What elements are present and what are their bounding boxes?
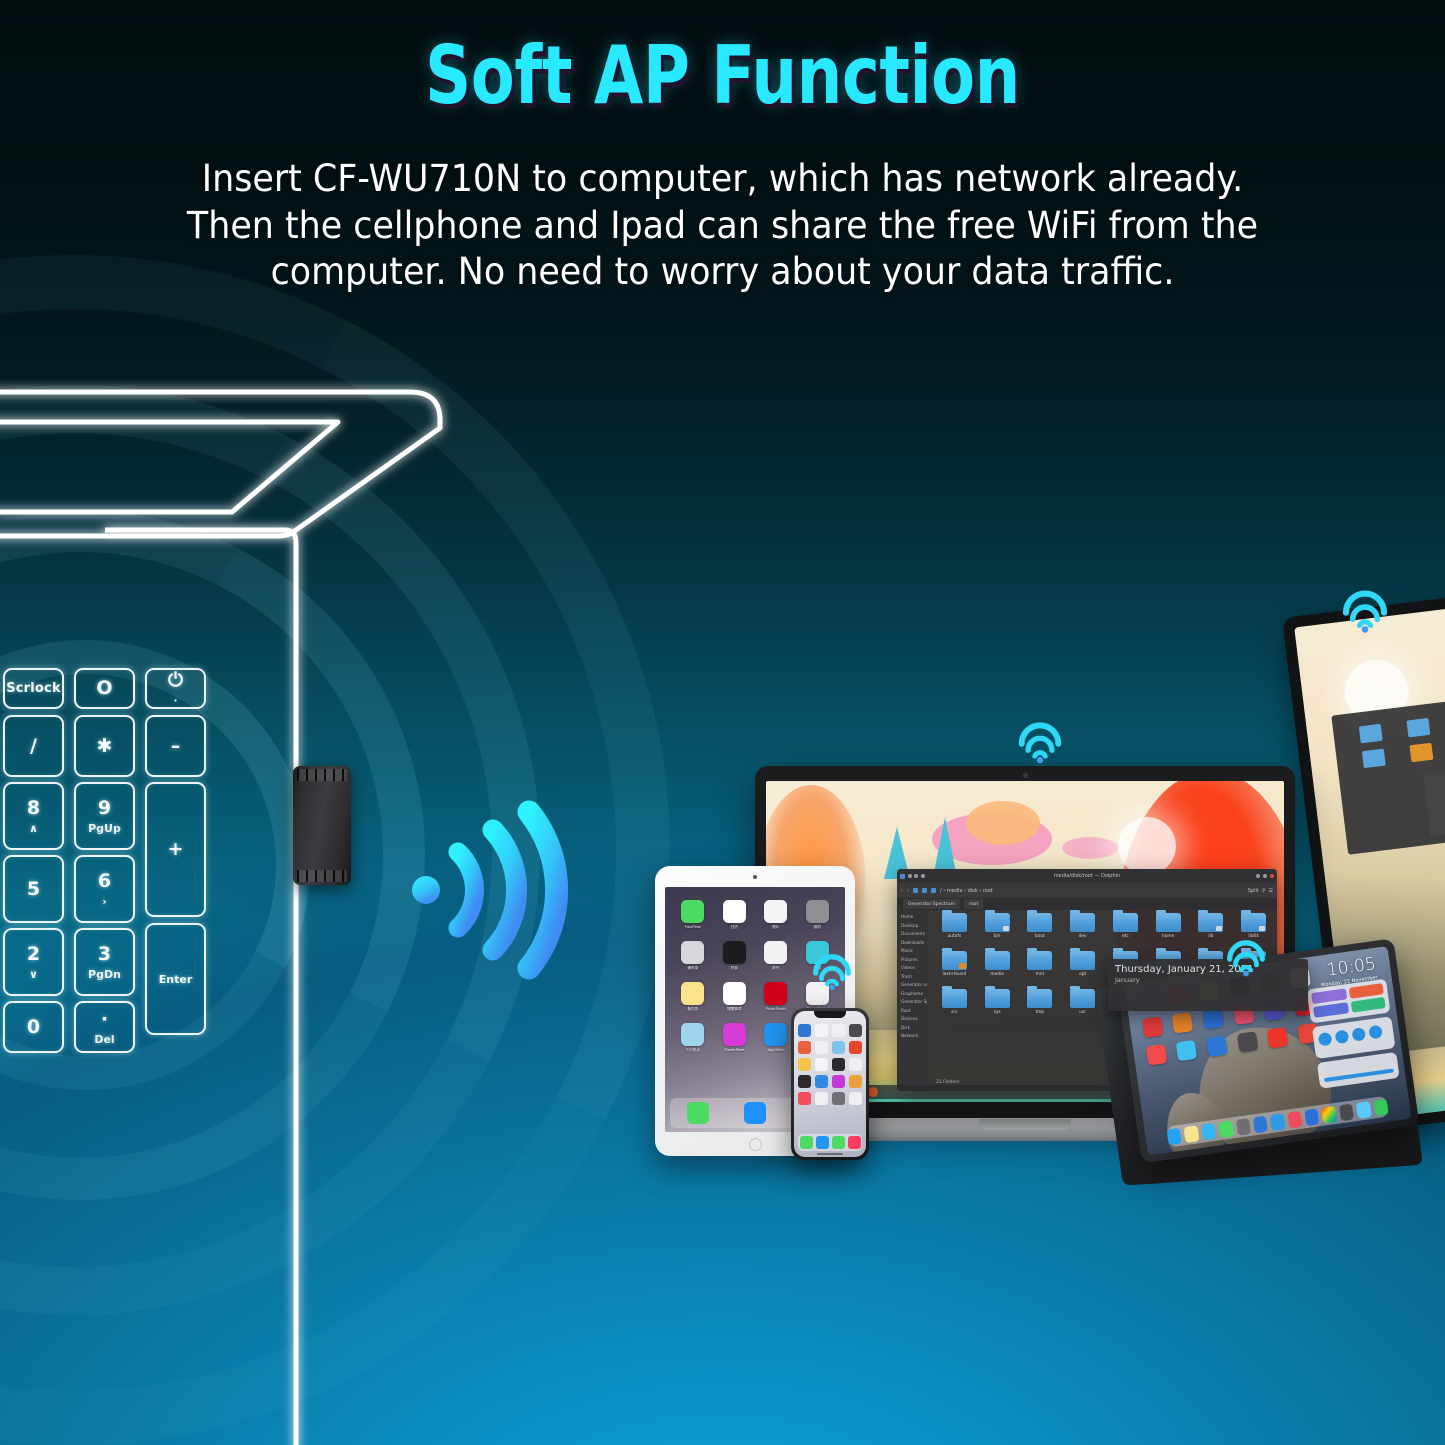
numeric-keypad[interactable]: ScrlockO⏻·/✱–8∧9PgUp+56›2∨3PgDnEnter0·De… [0,668,214,1068]
folder-icon [942,951,967,970]
dock-item-app4[interactable] [868,1087,878,1097]
folder-item[interactable]: bin [976,913,1019,951]
app-icon [1203,1008,1224,1029]
folder-label: dev [1079,934,1087,939]
key-6[interactable]: 6› [74,855,135,923]
titlebar-left-controls[interactable] [900,874,925,879]
key-sublabel: PgUp [88,823,121,834]
folder-icon [1070,989,1095,1008]
adapter-ridges-bottom [297,870,347,882]
app-label: 时钟 [731,966,738,971]
app-icon [681,900,704,923]
key-label: O [96,679,112,698]
page-title: Soft AP Function [145,34,1301,117]
sidebar-item[interactable]: Pictures [899,956,927,965]
app-icon-tile[interactable]: 报刊 [755,941,797,971]
key--[interactable]: / [3,715,64,777]
sidebar-item[interactable]: Network [899,1032,927,1041]
key-label: 3 [98,945,111,964]
sidebar-item[interactable]: Devices [899,1015,927,1024]
folder-item[interactable]: etc [1104,913,1147,951]
dock-twitter-icon[interactable] [1201,1122,1216,1140]
dock-mail-icon[interactable] [1253,1115,1268,1133]
key-sublabel: › [102,896,107,907]
folder-label: home [1162,934,1174,939]
key-3[interactable]: 3PgDn [74,928,135,996]
folder-icon [985,951,1010,970]
app-icon [806,900,829,923]
key-label: – [171,737,181,756]
tab-generator-spectrum[interactable]: Generator Spectrum [903,899,960,909]
app-label: FaceTime [685,925,701,929]
sidebar-item[interactable]: Documents [899,930,927,939]
app-icon[interactable] [849,1075,862,1088]
app-icon-tile[interactable]: 日历 [714,900,756,930]
toolbar-icon-b[interactable] [914,874,918,878]
key-label: + [168,840,184,859]
app-icon-tile[interactable]: 通讯录 [672,941,714,971]
dock-files-icon[interactable] [1270,1113,1285,1131]
folder-icon [1027,989,1052,1008]
page-description: Insert CF-WU710N to computer, which has … [162,155,1283,295]
app-icon [723,982,746,1005]
app-label: 备忘录 [687,1007,698,1012]
preview-icon[interactable] [931,888,936,893]
app-icon[interactable] [798,1092,811,1105]
laptop-base-notch [979,1119,1071,1130]
key-label: 5 [27,880,40,899]
dock-store-icon[interactable] [1304,1108,1319,1126]
dock-appstore-icon[interactable] [1356,1101,1371,1119]
app-icon-tile[interactable] [1139,1016,1166,1038]
sidebar-item[interactable]: Generator schemes [899,981,927,990]
iphone-dock[interactable] [798,1134,862,1151]
iphone-app-grid[interactable] [798,1024,862,1105]
key-label: ⏻ [168,671,183,690]
key-sublabel: ∧ [29,823,38,834]
app-icon[interactable] [815,1058,828,1071]
key-sublabel: Del [94,1034,114,1045]
app-icon[interactable] [798,1041,811,1054]
iphone-notch [814,1011,846,1018]
folder-icon [942,989,967,1008]
app-icon[interactable] [798,1075,811,1088]
minimize-icon[interactable] [1256,874,1260,878]
widget-shortcuts[interactable] [1307,979,1391,1024]
app-label: 通讯录 [687,966,698,971]
app-icon [764,941,787,964]
symlink-icon [1216,926,1222,931]
wifi-badge-laptop [1013,720,1067,763]
wallpaper-cloud-2 [966,801,1040,845]
folder-label: etc [1122,934,1129,939]
app-icon-tile[interactable]: 照片 [755,900,797,930]
folder-label: media [990,972,1003,977]
key--[interactable]: ✱ [74,715,135,777]
usb-wifi-adapter [293,766,351,885]
dock-messages-icon[interactable] [1218,1120,1233,1138]
split-button[interactable]: Split [1248,888,1259,894]
app-label: Photo Booth [766,1007,786,1011]
folder-item[interactable]: sys [976,989,1019,1027]
app-icon [1172,1012,1193,1033]
folder-label: sys [994,1010,1001,1015]
back-icon[interactable]: ‹ [901,888,903,894]
monitor-mirrored-window [1331,691,1445,854]
app-icon[interactable] [832,1075,845,1088]
app-label: 个人热点 [686,1048,700,1053]
app-icon[interactable] [849,1041,862,1054]
window-menu-icon[interactable] [900,874,905,879]
dock-facetime-icon[interactable] [1373,1098,1388,1116]
lock-icon [959,963,966,969]
app-icon[interactable] [815,1092,828,1105]
app-icon [723,900,746,923]
folder-icon [1156,913,1181,932]
dock-messages-icon[interactable] [832,1136,845,1149]
key-sublabel: PgDn [88,969,121,980]
key-0[interactable]: 0 [3,1001,64,1053]
dock-phone-icon[interactable] [800,1136,813,1149]
app-icon [681,982,704,1005]
hamburger-icon[interactable]: ☰ [1269,888,1273,894]
folder-item[interactable]: tmp [1019,989,1062,1027]
key--[interactable]: + [145,782,206,917]
folder-icon [1113,913,1138,932]
key-label: Enter [159,974,193,985]
app-icon-tile[interactable] [1173,1039,1200,1061]
key-label: Scrlock [6,682,61,695]
dock-camera-icon[interactable] [1339,1103,1354,1121]
app-icon [1237,1031,1258,1052]
dock-messages-icon[interactable] [687,1102,709,1124]
app-label: 提醒事项 [727,1007,741,1012]
app-label: iTunes Store [724,1048,744,1052]
key-label: / [30,737,37,756]
app-icon-tile[interactable] [1169,1012,1196,1034]
laptop-webcam [1023,773,1028,778]
app-icon-tile[interactable]: FaceTime [672,900,714,930]
app-icon [681,1023,704,1046]
app-icon [1176,1040,1197,1061]
folder-icon [1198,913,1223,932]
key-o[interactable]: O [74,668,135,709]
sidebar-item[interactable]: Downloads [899,939,927,948]
app-icon-tile[interactable]: iTunes Store [714,1023,756,1053]
app-label: 日历 [731,925,738,930]
app-icon[interactable] [832,1092,845,1105]
folder-icon [1027,951,1052,970]
key--[interactable]: ·Del [74,1001,135,1053]
file-manager-sidebar[interactable]: HomeDesktopDocumentsDownloadsMusicPictur… [897,910,929,1091]
app-icon [1267,1027,1288,1048]
key-label: 9 [98,799,111,818]
wallpaper-moon [1118,817,1176,875]
folder-item[interactable]: mnt [1019,951,1062,989]
app-icon [723,1023,746,1046]
promo-banner: Soft AP Function Insert CF-WU710N to com… [0,0,1445,1445]
dock-music-icon[interactable] [1287,1110,1302,1128]
sidebar-item[interactable]: Home [899,913,927,922]
key--[interactable]: ⏻· [145,668,206,709]
app-icon[interactable] [832,1041,845,1054]
app-icon[interactable] [849,1058,862,1071]
app-label: 报刊 [772,966,779,971]
close-icon[interactable] [1270,874,1274,878]
dock-settings-icon[interactable] [1235,1118,1250,1136]
folder-label: lib [1208,934,1213,939]
folder-label: autofs [948,934,961,939]
view-icons-icon[interactable] [913,888,918,893]
folder-item[interactable]: media [976,951,1019,989]
folder-label: usr [1079,1010,1086,1015]
symlink-icon [1003,926,1009,931]
folder-item[interactable]: opt [1061,951,1104,989]
folder-icon [1070,913,1095,932]
app-icon [723,941,746,964]
app-icon-tile[interactable] [1204,1035,1231,1057]
ipad-home-button[interactable] [749,1138,762,1151]
dock-music-icon[interactable] [848,1136,861,1149]
dock-photos-icon[interactable] [1322,1105,1337,1123]
sidebar-item[interactable]: Root [899,1007,927,1016]
key-9[interactable]: 9PgUp [74,782,135,850]
sidebar-item[interactable]: Music [899,947,927,956]
iphone-home-indicator[interactable] [817,1153,843,1155]
key-sublabel: ∨ [29,969,38,980]
window-titlebar[interactable]: media/disk/root — Dolphin [897,869,1277,883]
maximize-icon[interactable] [1263,874,1267,878]
app-icon [681,941,704,964]
app-icon-tile[interactable] [1143,1044,1170,1066]
folder-item[interactable]: home [1147,913,1190,951]
folder-icon [985,989,1010,1008]
window-controls[interactable] [1256,874,1274,878]
window-title: media/disk/root — Dolphin [1054,873,1120,879]
folder-item[interactable]: boot [1019,913,1062,951]
forward-icon[interactable]: › [907,888,909,894]
app-icon [1206,1036,1227,1057]
toolbar-icon-c[interactable] [921,874,925,878]
dock-safari-icon[interactable] [1167,1127,1182,1145]
window-toolbar[interactable]: ‹ › / › media › disk › root Split ⚲ ☰ [897,883,1277,898]
calendar-date: Thursday, January 21, 2021 [1108,959,1308,976]
key-sublabel: · [173,695,177,706]
view-details-icon[interactable] [922,888,927,893]
tab-root[interactable]: root [964,899,983,909]
app-icon[interactable] [832,1024,845,1037]
description-line-1: Insert CF-WU710N to computer, which has … [162,155,1283,202]
wifi-badge-ipad [808,952,856,990]
toolbar-icon-a[interactable] [908,874,912,878]
adapter-ridges-top [297,769,347,781]
folder-label: opt [1079,972,1086,977]
key-2[interactable]: 2∨ [3,928,64,996]
key-enter[interactable]: Enter [145,923,206,1035]
folder-label: lost+found [943,972,967,977]
app-icon[interactable] [849,1092,862,1105]
app-icon-tile[interactable] [1264,1027,1291,1049]
folder-label: bin [994,934,1001,939]
app-icon-tile[interactable]: 个人热点 [672,1023,714,1053]
description-line-2: Then the cellphone and Ipad can share th… [162,202,1283,249]
key-label: 2 [27,945,40,964]
iphone-body [791,1008,869,1160]
app-icon[interactable] [832,1058,845,1071]
folder-item[interactable]: dev [1061,913,1104,951]
dock-notes-icon[interactable] [1184,1125,1199,1143]
sidebar-item[interactable]: Desktop [899,922,927,931]
wifi-signal-icon [398,790,598,990]
app-label: 照片 [772,925,779,930]
wallpaper-cloud-3 [1062,837,1118,859]
folder-icon [1027,913,1052,932]
app-icon-tile[interactable]: 相机 [797,900,839,930]
window-tabs[interactable]: Generator Spectrum root [897,898,1277,910]
folder-label: tmp [1036,1010,1045,1015]
folder-item[interactable]: autofs [933,913,976,951]
folder-label: srv [951,1010,958,1015]
calendar-month: January [1108,976,1308,984]
key-label: · [101,1010,108,1029]
widget-battery[interactable] [1317,1052,1400,1089]
app-label: App Store [768,1048,784,1052]
breadcrumb[interactable]: / › media › disk › root [940,888,993,894]
app-icon[interactable] [798,1058,811,1071]
key-label: ✱ [97,737,113,756]
key-scrlock[interactable]: Scrlock [3,668,64,709]
key-label: 8 [27,799,40,818]
iphone-device [791,1008,869,1160]
sidebar-item[interactable]: Grapheme [899,990,927,999]
key--[interactable]: – [145,715,206,777]
app-icon[interactable] [815,1075,828,1088]
app-icon [1146,1044,1167,1065]
folder-icon [1241,913,1266,932]
sidebar-item[interactable]: Videos [899,964,927,973]
folder-item[interactable]: lost+found [933,951,976,989]
description-line-3: computer. No need to worry about your da… [162,248,1283,295]
iphone-screen [794,1011,866,1157]
app-icon-tile[interactable]: 备忘录 [672,982,714,1012]
app-icon [1142,1016,1163,1037]
wifi-badge-ipadpro [1222,938,1270,976]
app-icon-tile[interactable]: 提醒事项 [714,982,756,1012]
app-icon [764,982,787,1005]
app-icon [764,1023,787,1046]
key-label: 6 [98,872,111,891]
sidebar-item[interactable]: Trash [899,973,927,982]
calendar-popup: Thursday, January 21, 2021 January [1108,959,1308,1011]
app-icon[interactable] [815,1041,828,1054]
folder-icon [1070,951,1095,970]
ipad-camera [753,875,757,879]
app-label: 相机 [814,925,821,930]
key-5[interactable]: 5 [3,855,64,923]
folder-label: boot [1035,934,1045,939]
app-icon [764,900,787,923]
sidebar-item[interactable]: Generator Spectrum [899,998,927,1007]
key-label: 0 [27,1018,40,1037]
search-icon[interactable]: ⚲ [1262,888,1266,894]
app-icon[interactable] [849,1024,862,1037]
symlink-icon [1259,926,1265,931]
wifi-badge-monitor [1337,588,1393,633]
folder-icon [985,913,1010,932]
key-8[interactable]: 8∧ [3,782,64,850]
app-icon-tile[interactable] [1234,1031,1261,1053]
folder-item[interactable]: srv [933,989,976,1027]
app-icon[interactable] [798,1024,811,1037]
dock-mail-icon[interactable] [744,1102,766,1124]
folder-icon [942,913,967,932]
dock-safari-icon[interactable] [816,1136,829,1149]
app-icon-tile[interactable]: 时钟 [714,941,756,971]
sidebar-item[interactable]: Disk [899,1024,927,1033]
app-icon[interactable] [815,1024,828,1037]
folder-label: mnt [1036,972,1045,977]
